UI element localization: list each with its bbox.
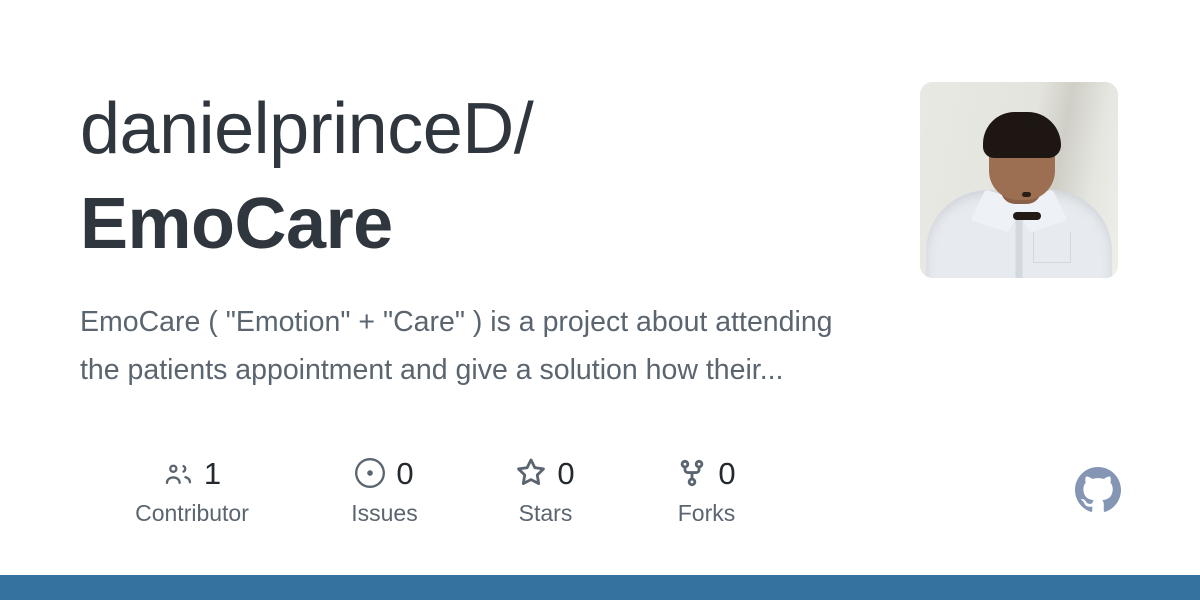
- repository-description: EmoCare ( "Emotion" + "Care" ) is a proj…: [80, 298, 840, 394]
- stat-stars: 0 Stars: [465, 452, 626, 525]
- avatar-photo: [920, 82, 1118, 278]
- stat-forks: 0 Forks: [626, 452, 787, 525]
- avatar-eye: [1022, 192, 1031, 197]
- repository-name: EmoCare: [80, 177, 870, 272]
- stat-stars-top: 0: [516, 452, 574, 494]
- avatar: [920, 82, 1118, 278]
- repository-stats: 1 Contributor 0 Issues: [80, 452, 787, 525]
- stat-contributors-label: Contributor: [135, 502, 249, 525]
- stat-issues-label: Issues: [351, 502, 417, 525]
- stat-stars-label: Stars: [519, 502, 573, 525]
- stat-forks-label: Forks: [678, 502, 736, 525]
- repository-social-preview-card: danielprinceD/EmoCare EmoCare ( "Emotion…: [0, 0, 1200, 600]
- stat-issues-top: 0: [355, 452, 413, 494]
- people-icon: [163, 458, 193, 488]
- stat-issues-value: 0: [396, 458, 413, 489]
- github-mark-icon: [1075, 467, 1121, 513]
- stat-forks-value: 0: [718, 458, 735, 489]
- issue-opened-icon: [355, 458, 385, 488]
- repository-info: danielprinceD/EmoCare EmoCare ( "Emotion…: [80, 82, 870, 394]
- page-title: danielprinceD/EmoCare: [80, 82, 870, 272]
- stat-issues: 0 Issues: [304, 452, 465, 525]
- stat-contributors: 1 Contributor: [80, 452, 304, 525]
- stat-contributors-value: 1: [204, 458, 221, 489]
- star-icon: [516, 458, 546, 488]
- stat-contributors-top: 1: [163, 452, 221, 494]
- avatar-moustache: [1013, 212, 1041, 220]
- repo-forked-icon: [677, 458, 707, 488]
- repository-owner: danielprinceD/: [80, 89, 533, 169]
- stat-forks-top: 0: [677, 452, 735, 494]
- avatar-shirt-pocket: [1033, 232, 1071, 263]
- accent-bar: [0, 575, 1200, 600]
- stat-stars-value: 0: [557, 458, 574, 489]
